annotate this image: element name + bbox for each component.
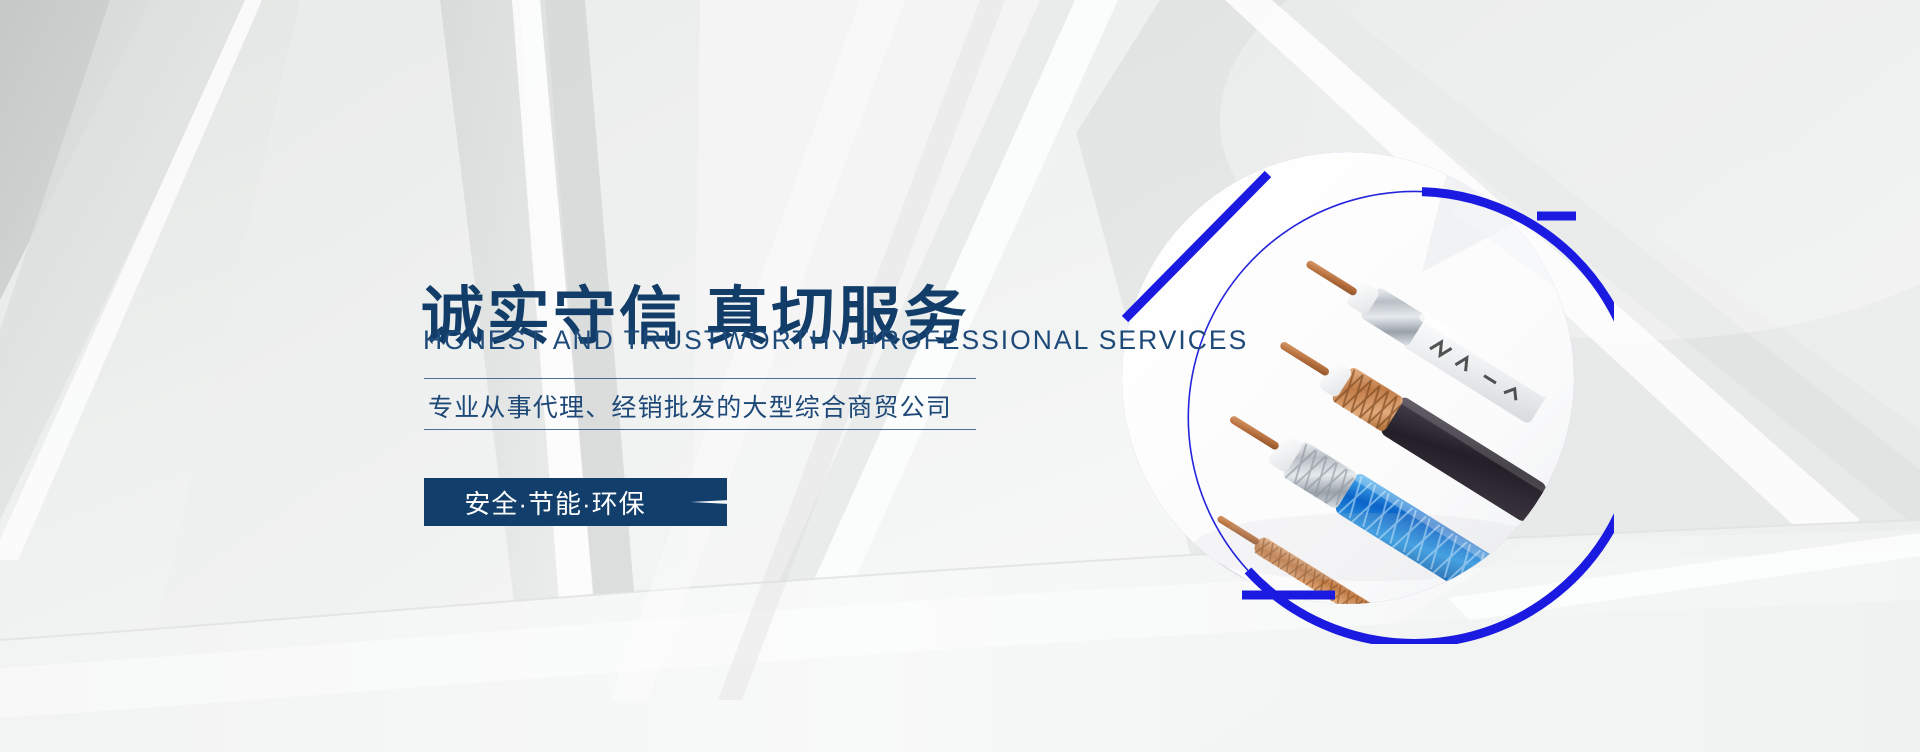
divider-top (424, 378, 976, 379)
page-description: 专业从事代理、经销批发的大型综合商贸公司 (428, 388, 952, 424)
hero-banner: 诚实守信 真切服务 HONEST AND TRUSTWORTHY PROFESS… (0, 0, 1920, 752)
feature-ribbon: 安全·节能·环保 (424, 478, 727, 526)
divider-bottom (424, 429, 976, 430)
product-image-circle (1122, 152, 1574, 604)
page-subtitle: HONEST AND TRUSTWORTHY PROFESSIONAL SERV… (423, 325, 1248, 356)
coaxial-cable-bundle-photo (1122, 152, 1574, 604)
cable-illustration (1122, 152, 1574, 604)
ribbon-label: 安全·节能·环保 (424, 478, 686, 526)
hero-text-block: 诚实守信 真切服务 HONEST AND TRUSTWORTHY PROFESS… (0, 0, 1100, 752)
